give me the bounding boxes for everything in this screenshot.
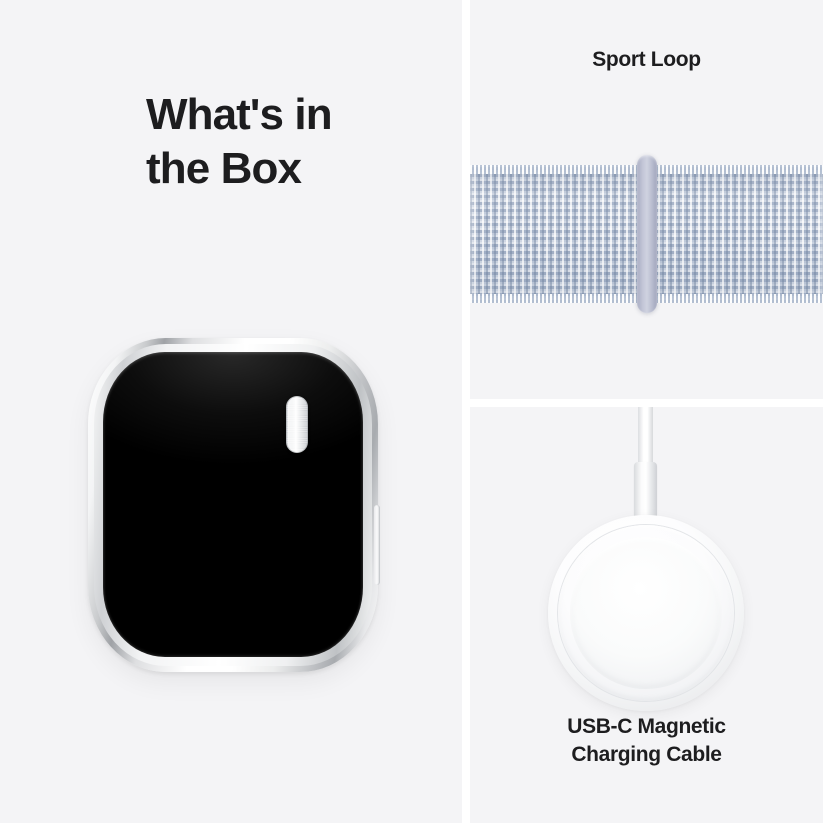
page-title: What's in the Box [146, 88, 446, 195]
charging-cable-label: USB-C Magnetic Charging Cable [470, 713, 823, 768]
magnetic-charging-puck [548, 515, 744, 711]
sport-loop-label: Sport Loop [470, 48, 823, 72]
watch-display [103, 352, 363, 657]
panel-whats-in-the-box: What's in the Box [0, 0, 462, 823]
charging-cable-wire [638, 407, 653, 469]
charging-cable-strain-relief [634, 462, 657, 523]
whats-in-the-box-board: What's in the Box Sport Loop USB [0, 0, 823, 823]
band-keeper-loop [637, 155, 657, 313]
apple-watch-image [88, 338, 378, 672]
watch-side-button [374, 505, 380, 585]
charging-puck-face [570, 537, 722, 689]
watch-case [88, 338, 378, 672]
digital-crown-highlight [288, 398, 303, 451]
panel-charging-cable: USB-C Magnetic Charging Cable [470, 407, 823, 823]
panel-sport-loop: Sport Loop [470, 0, 823, 399]
digital-crown [286, 396, 308, 453]
